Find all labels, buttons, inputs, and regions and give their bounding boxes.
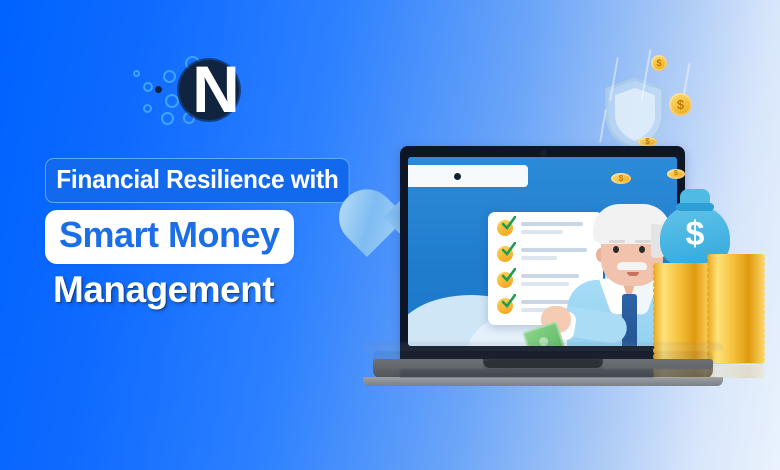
man-eyebrow: [635, 240, 651, 243]
headline-line-2: Smart Money: [45, 210, 294, 264]
logo-dot-icon: [155, 86, 162, 93]
checklist-line: [521, 256, 557, 260]
man-eye: [639, 246, 645, 253]
laptop: 3:00: [400, 146, 685, 361]
headline-line-1: Financial Resilience with: [45, 158, 350, 203]
check-tick-icon: [501, 268, 516, 283]
headline-block: Financial Resilience with Smart Money Ma…: [45, 158, 355, 311]
logo-bubble-icon: [163, 70, 176, 83]
brand-logo[interactable]: N: [133, 52, 233, 128]
falling-coin-icon: $: [667, 169, 685, 179]
money-bag-tie: [676, 203, 714, 211]
finance-illustration: $ $ $: [355, 45, 780, 470]
laptop-notch: [483, 359, 603, 368]
check-tick-icon: [501, 294, 516, 309]
laptop-foot: [363, 377, 723, 386]
coin-stack-right: [707, 255, 765, 363]
piggy-bank: [496, 340, 604, 346]
man-eyebrow: [609, 240, 625, 243]
screen-dot-icon: [454, 173, 461, 180]
laptop-screen: 3:00: [408, 157, 677, 346]
screen-white-strip: [408, 165, 528, 187]
logo-letter: N: [185, 50, 245, 128]
logo-bubble-icon: [143, 82, 153, 92]
check-tick-icon: [501, 242, 516, 257]
falling-coin-icon: $: [611, 173, 631, 184]
logo-bubble-icon: [143, 104, 152, 113]
headline-line-3: Management: [53, 269, 274, 311]
coin-disc-icon: [707, 356, 765, 363]
man-mustache: [617, 262, 647, 270]
checklist-line: [521, 230, 563, 234]
promo-banner: N Financial Resilience with Smart Money …: [0, 0, 780, 470]
webcam-icon: [540, 150, 547, 157]
checklist-line: [521, 282, 569, 286]
coin-stack-left: [653, 264, 711, 360]
check-tick-icon: [501, 216, 516, 231]
banknote-seal: [538, 336, 549, 346]
dollar-sign-icon: $: [658, 217, 732, 251]
man-eye: [613, 246, 619, 253]
falling-coin-icon: $: [669, 93, 692, 116]
logo-bubble-icon: [133, 70, 140, 77]
logo-bubble-icon: [165, 94, 179, 108]
falling-coin-icon: $: [651, 55, 667, 71]
logo-bubble-icon: [161, 112, 174, 125]
